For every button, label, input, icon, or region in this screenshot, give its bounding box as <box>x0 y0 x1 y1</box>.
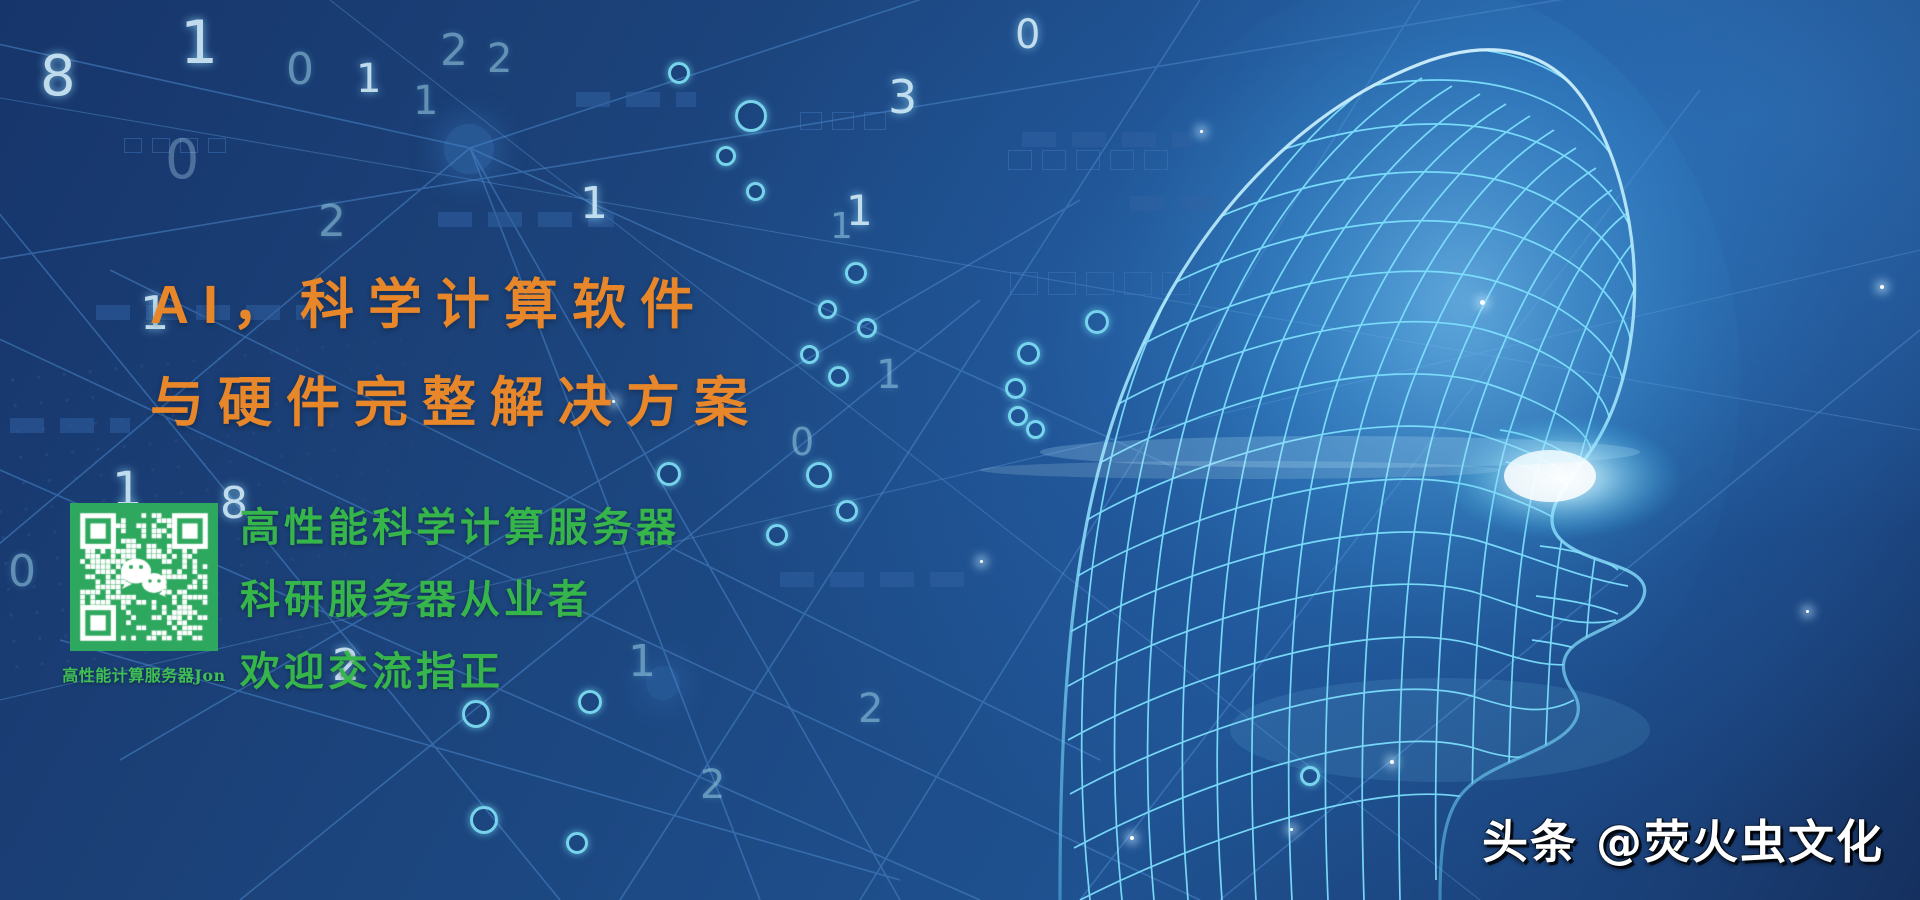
wireframe-face-graphic <box>940 0 1920 900</box>
sparkle-dot <box>1290 828 1293 831</box>
cyan-ring <box>857 318 877 338</box>
poster-subtitle: 高性能科学计算服务器 科研服务器从业者 欢迎交流指正 <box>240 508 680 692</box>
poster-title: AI，科学计算软件 与硬件完整解决方案 <box>150 278 762 430</box>
floating-digit: 1 <box>580 178 608 229</box>
sparkle-dot <box>1390 760 1394 764</box>
cyan-ring <box>716 146 736 166</box>
sparkle-dot <box>1880 285 1884 289</box>
outlined-square-row <box>800 112 886 130</box>
floating-digit: 1 <box>180 8 218 78</box>
floating-digit: 1 <box>413 78 438 124</box>
sparkle-dot <box>1200 130 1203 133</box>
outlined-square-row <box>124 138 226 153</box>
cyan-ring <box>845 262 867 284</box>
cyan-ring <box>668 62 690 84</box>
qr-canvas[interactable] <box>70 503 218 651</box>
cyan-ring <box>818 300 837 319</box>
sparkle-dot <box>1480 300 1485 305</box>
title-line-2: 与硬件完整解决方案 <box>150 376 762 430</box>
floating-digit: 0 <box>165 128 199 191</box>
subtitle-line-1: 高性能科学计算服务器 <box>240 508 680 548</box>
cyan-ring <box>735 100 767 132</box>
floating-digit: 3 <box>888 70 917 124</box>
sparkle-dot <box>1130 836 1134 840</box>
floating-digit: 0 <box>790 420 814 464</box>
subtitle-line-2: 科研服务器从业者 <box>240 580 680 620</box>
cyan-ring <box>836 500 858 522</box>
floating-digit: 1 <box>356 56 381 102</box>
headline-watermark: 头条 @荧火虫文化 <box>1482 806 1884 872</box>
cyan-ring <box>578 690 602 714</box>
floating-digit: 1 <box>876 352 901 398</box>
subtitle-line-3: 欢迎交流指正 <box>240 652 680 692</box>
floating-digit: 8 <box>40 44 76 109</box>
cyan-ring <box>800 345 819 364</box>
floating-digit: 1 <box>846 186 873 235</box>
dashed-bar <box>576 92 696 107</box>
cyan-ring <box>746 182 765 201</box>
cyan-ring <box>806 462 832 488</box>
floating-digit: 2 <box>318 196 346 247</box>
qr-caption: 高性能计算服务器Jon <box>46 662 242 686</box>
poster-canvas: 123081201121110108212210 <box>0 0 1920 900</box>
floating-digit: 1 <box>830 206 853 247</box>
network-hub-node <box>444 124 494 174</box>
floating-digit: 2 <box>440 25 468 76</box>
wechat-qr-code[interactable] <box>70 503 218 651</box>
cyan-ring <box>462 700 490 728</box>
floating-digit: 0 <box>286 44 314 95</box>
cyan-ring <box>470 806 498 834</box>
sparkle-dot <box>980 560 983 563</box>
floating-digit: 2 <box>700 762 725 808</box>
cyan-ring <box>566 832 588 854</box>
sparkle-dot <box>1806 610 1809 613</box>
title-line-1: AI，科学计算软件 <box>150 278 762 332</box>
floating-digit: 2 <box>487 36 512 82</box>
floating-digit: 2 <box>858 686 883 732</box>
dashed-bar <box>438 212 614 227</box>
cyan-ring <box>828 366 849 387</box>
